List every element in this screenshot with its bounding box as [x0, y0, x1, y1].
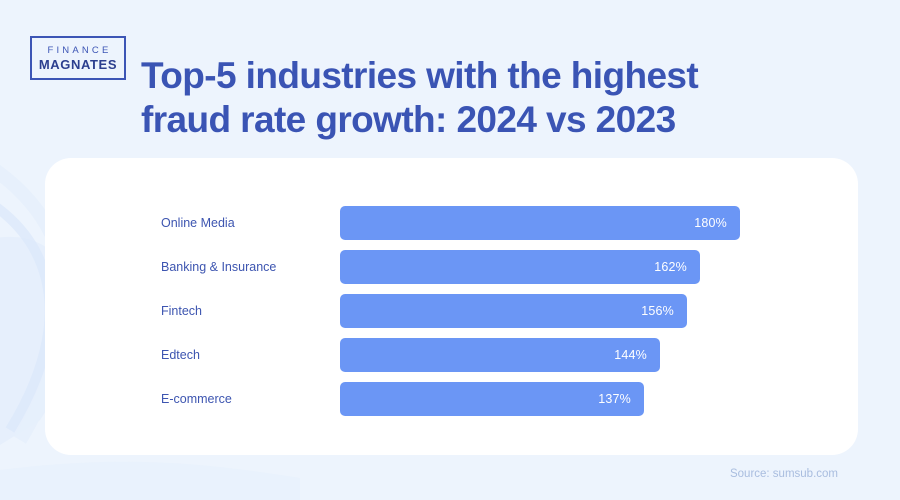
page-title-line-2: fraud rate growth: 2024 vs 2023: [141, 98, 821, 142]
bar[interactable]: 137%: [340, 382, 644, 416]
bar-value-label: 162%: [654, 260, 687, 274]
bar[interactable]: 156%: [340, 294, 687, 328]
source-credit: Source: sumsub.com: [730, 468, 838, 480]
bar-row: Fintech156%: [45, 294, 858, 328]
horizontal-bar-chart: Online Media180%Banking & Insurance162%F…: [45, 158, 858, 455]
bar-row: Online Media180%: [45, 206, 858, 240]
bar-value-label: 137%: [598, 392, 631, 406]
bar-value-label: 180%: [694, 216, 727, 230]
bar-category-label: Banking & Insurance: [161, 250, 276, 284]
bar-row: Banking & Insurance162%: [45, 250, 858, 284]
logo-line-magnates: MAGNATES: [39, 57, 117, 72]
bar-category-label: Fintech: [161, 294, 202, 328]
bar-row: E-commerce137%: [45, 382, 858, 416]
bar-value-label: 156%: [641, 304, 674, 318]
page-title: Top-5 industries with the highest fraud …: [141, 54, 821, 142]
finance-magnates-logo: FINANCE MAGNATES: [30, 36, 126, 80]
bar-row: Edtech144%: [45, 338, 858, 372]
infographic-canvas: FINANCE MAGNATES Top-5 industries with t…: [0, 0, 900, 500]
bar[interactable]: 144%: [340, 338, 660, 372]
bar-category-label: Online Media: [161, 206, 235, 240]
page-title-line-1: Top-5 industries with the highest: [141, 54, 821, 98]
bar[interactable]: 162%: [340, 250, 700, 284]
logo-line-finance: FINANCE: [44, 45, 111, 57]
bar[interactable]: 180%: [340, 206, 740, 240]
bar-value-label: 144%: [614, 348, 647, 362]
chart-card: Online Media180%Banking & Insurance162%F…: [45, 158, 858, 455]
bar-category-label: Edtech: [161, 338, 200, 372]
bar-category-label: E-commerce: [161, 382, 232, 416]
